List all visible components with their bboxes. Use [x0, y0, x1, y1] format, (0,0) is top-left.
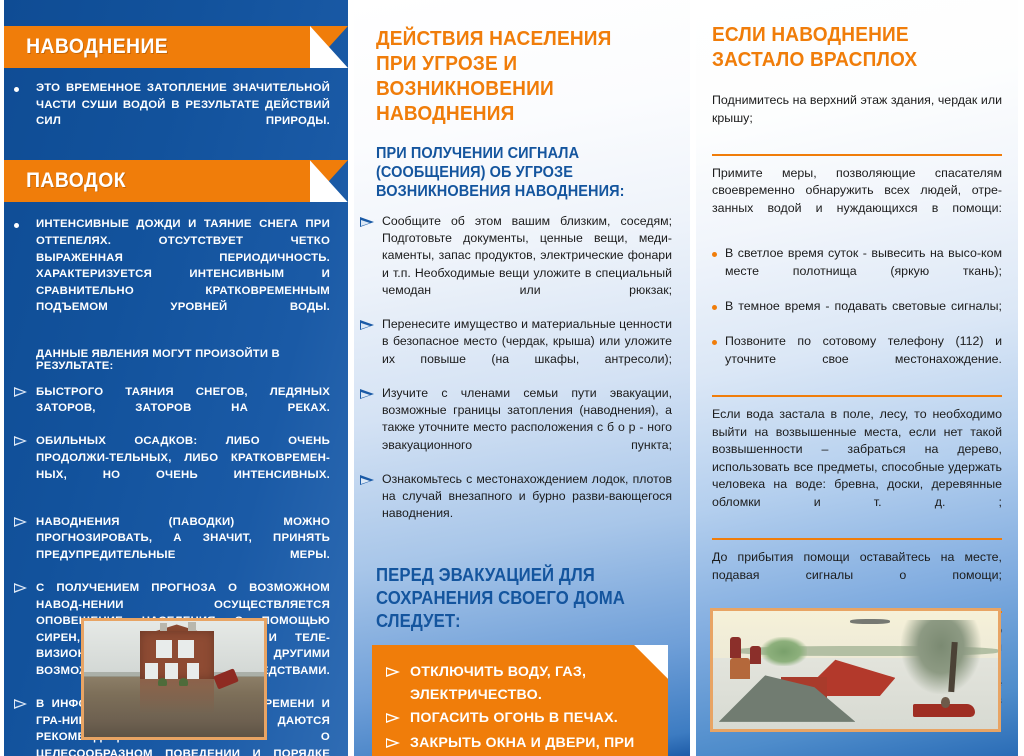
right-para-3: Если вода застала в поле, лесу, то необх…	[712, 406, 1002, 529]
divider	[712, 154, 1002, 156]
left-bullet-1-text: ЭТО ВРЕМЕННОЕ ЗАТОПЛЕНИЕ ЗНАЧИТЕЛЬНОЙ ЧА…	[36, 80, 330, 146]
middle-subheading: ПРИ ПОЛУЧЕНИИ СИГНАЛА (СООБЩЕНИЯ) ОБ УГР…	[376, 144, 651, 201]
divider	[712, 395, 1002, 397]
list-item: ПОГАСИТЬ ОГОНЬ В ПЕЧАХ.	[386, 707, 652, 732]
arrow-right-icon	[14, 696, 36, 756]
left-bullet-2-text: ИНТЕНСИВНЫЕ ДОЖДИ И ТАЯНИЕ СНЕГА ПРИ ОТТ…	[36, 216, 330, 332]
middle-item-4: Ознакомьтесь с местонахождением лодок, п…	[382, 471, 672, 540]
left-cause-1: БЫСТРОГО ТАЯНИЯ СНЕГОВ, ЛЕДЯНЫХ ЗАТОРОВ,…	[36, 384, 330, 434]
left-cause-2: ОБИЛЬНЫХ ОСАДКОВ: ЛИБО ОЧЕНЬ ПРОДОЛЖИ-ТЕ…	[36, 433, 330, 499]
arrow-right-icon	[360, 213, 382, 316]
divider	[712, 538, 1002, 540]
box-item-1: ОТКЛЮЧИТЬ ВОДУ, ГАЗ, ЭЛЕКТРИЧЕСТВО.	[410, 661, 652, 707]
list-item: Позвоните по сотовому телефону (112) и у…	[712, 333, 1002, 386]
flooded-house-photo	[81, 618, 267, 740]
middle-panel: ДЕЙСТВИЯ НАСЕЛЕНИЯ ПРИ УГРОЗЕ И ВОЗНИКНО…	[348, 0, 696, 756]
right-para-4: До прибытия помощи оставайтесь на месте,…	[712, 549, 1002, 602]
middle-item-3: Изучите с членами семьи пути эвакуации, …	[382, 385, 672, 471]
bullet-dot-icon	[712, 245, 725, 298]
right-heading: ЕСЛИ НАВОДНЕНИЕ ЗАСТАЛО ВРАСПЛОХ	[712, 22, 982, 72]
list-item: Сообщите об этом вашим близким, соседям;…	[376, 213, 672, 316]
arrow-right-icon	[386, 661, 410, 707]
middle-heading-2: ПЕРЕД ЭВАКУАЦИЕЙ ДЛЯ СОХРАНЕНИЯ СВОЕГО Д…	[376, 564, 651, 633]
left-panel: НАВОДНЕНИЕ ЭТО ВРЕМЕННОЕ ЗАТОПЛЕНИЕ ЗНАЧ…	[0, 0, 348, 756]
list-item: В темное время - подавать световые сигна…	[712, 298, 1002, 333]
list-item: ОТКЛЮЧИТЬ ВОДУ, ГАЗ, ЭЛЕКТРИЧЕСТВО.	[386, 661, 652, 707]
middle-item-1: Сообщите об этом вашим близким, соседям;…	[382, 213, 672, 316]
banner-navodnenie-label: НАВОДНЕНИЕ	[4, 35, 168, 59]
bullet-dot-icon	[14, 80, 36, 146]
bullet-dot-icon	[712, 333, 725, 386]
left-section-note: ДАННЫЕ ЯВЛЕНИЯ МОГУТ ПРОИЗОЙТИ В РЕЗУЛЬТ…	[14, 348, 330, 372]
right-panel: ЕСЛИ НАВОДНЕНИЕ ЗАСТАЛО ВРАСПЛОХ Подними…	[696, 0, 1018, 756]
list-item: ЗАКРЫТЬ ОКНА И ДВЕРИ, ПРИ НЕОБХОДИМОСТИ …	[386, 732, 652, 756]
flood-safety-brochure: НАВОДНЕНИЕ ЭТО ВРЕМЕННОЕ ЗАТОПЛЕНИЕ ЗНАЧ…	[0, 0, 1024, 756]
list-item: НАВОДНЕНИЯ (ПАВОДКИ) МОЖНО ПРОГНОЗИРОВАТ…	[14, 514, 330, 580]
evacuation-actions-box: ОТКЛЮЧИТЬ ВОДУ, ГАЗ, ЭЛЕКТРИЧЕСТВО. ПОГА…	[372, 645, 668, 756]
arrow-right-icon	[360, 316, 382, 385]
list-item: Изучите с членами семьи пути эвакуации, …	[376, 385, 672, 471]
banner-pavodok: ПАВОДОК	[4, 160, 310, 202]
banner-pavodok-label: ПАВОДОК	[4, 169, 126, 193]
bullet-dot-icon	[712, 298, 725, 333]
arrow-right-icon	[14, 514, 36, 580]
right-bullet-1: В светлое время суток - вывесить на высо…	[725, 245, 1002, 298]
arrow-right-icon	[360, 471, 382, 540]
box-item-3: ЗАКРЫТЬ ОКНА И ДВЕРИ, ПРИ НЕОБХОДИМОСТИ …	[410, 732, 652, 756]
photo-illustration	[84, 621, 264, 737]
photo-illustration	[713, 611, 998, 729]
flooded-village-illustration	[710, 608, 1001, 732]
list-item: В светлое время суток - вывесить на высо…	[712, 245, 1002, 298]
banner-navodnenie: НАВОДНЕНИЕ	[4, 26, 310, 68]
right-bullet-2: В темное время - подавать световые сигна…	[725, 298, 1002, 333]
list-item: Перенесите имущество и материальные ценн…	[376, 316, 672, 385]
left-definition-1: ЭТО ВРЕМЕННОЕ ЗАТОПЛЕНИЕ ЗНАЧИТЕЛЬНОЙ ЧА…	[0, 68, 348, 146]
list-item: ЭТО ВРЕМЕННОЕ ЗАТОПЛЕНИЕ ЗНАЧИТЕЛЬНОЙ ЧА…	[14, 80, 330, 146]
list-item: ИНТЕНСИВНЫЕ ДОЖДИ И ТАЯНИЕ СНЕГА ПРИ ОТТ…	[14, 216, 330, 332]
list-item: БЫСТРОГО ТАЯНИЯ СНЕГОВ, ЛЕДЯНЫХ ЗАТОРОВ,…	[14, 384, 330, 434]
right-bullet-3: Позвоните по сотовому телефону (112) и у…	[725, 333, 1002, 386]
arrow-right-icon	[14, 433, 36, 499]
arrow-right-icon	[14, 384, 36, 434]
right-para-1: Поднимитесь на верхний этаж здания, черд…	[712, 92, 1002, 145]
arrow-right-icon	[360, 385, 382, 471]
box-item-2: ПОГАСИТЬ ОГОНЬ В ПЕЧАХ.	[410, 707, 618, 732]
middle-item-2: Перенесите имущество и материальные ценн…	[382, 316, 672, 385]
list-item: Ознакомьтесь с местонахождением лодок, п…	[376, 471, 672, 540]
middle-heading: ДЕЙСТВИЯ НАСЕЛЕНИЯ ПРИ УГРОЗЕ И ВОЗНИКНО…	[376, 26, 651, 126]
right-para-2: Примите меры, позволяющие спасателям сво…	[712, 165, 1002, 235]
left-forecast-1: НАВОДНЕНИЯ (ПАВОДКИ) МОЖНО ПРОГНОЗИРОВАТ…	[36, 514, 330, 580]
arrow-right-icon	[14, 580, 36, 696]
bullet-dot-icon	[14, 216, 36, 332]
arrow-right-icon	[386, 732, 410, 756]
list-item: ОБИЛЬНЫХ ОСАДКОВ: ЛИБО ОЧЕНЬ ПРОДОЛЖИ-ТЕ…	[14, 433, 330, 499]
arrow-right-icon	[386, 707, 410, 732]
